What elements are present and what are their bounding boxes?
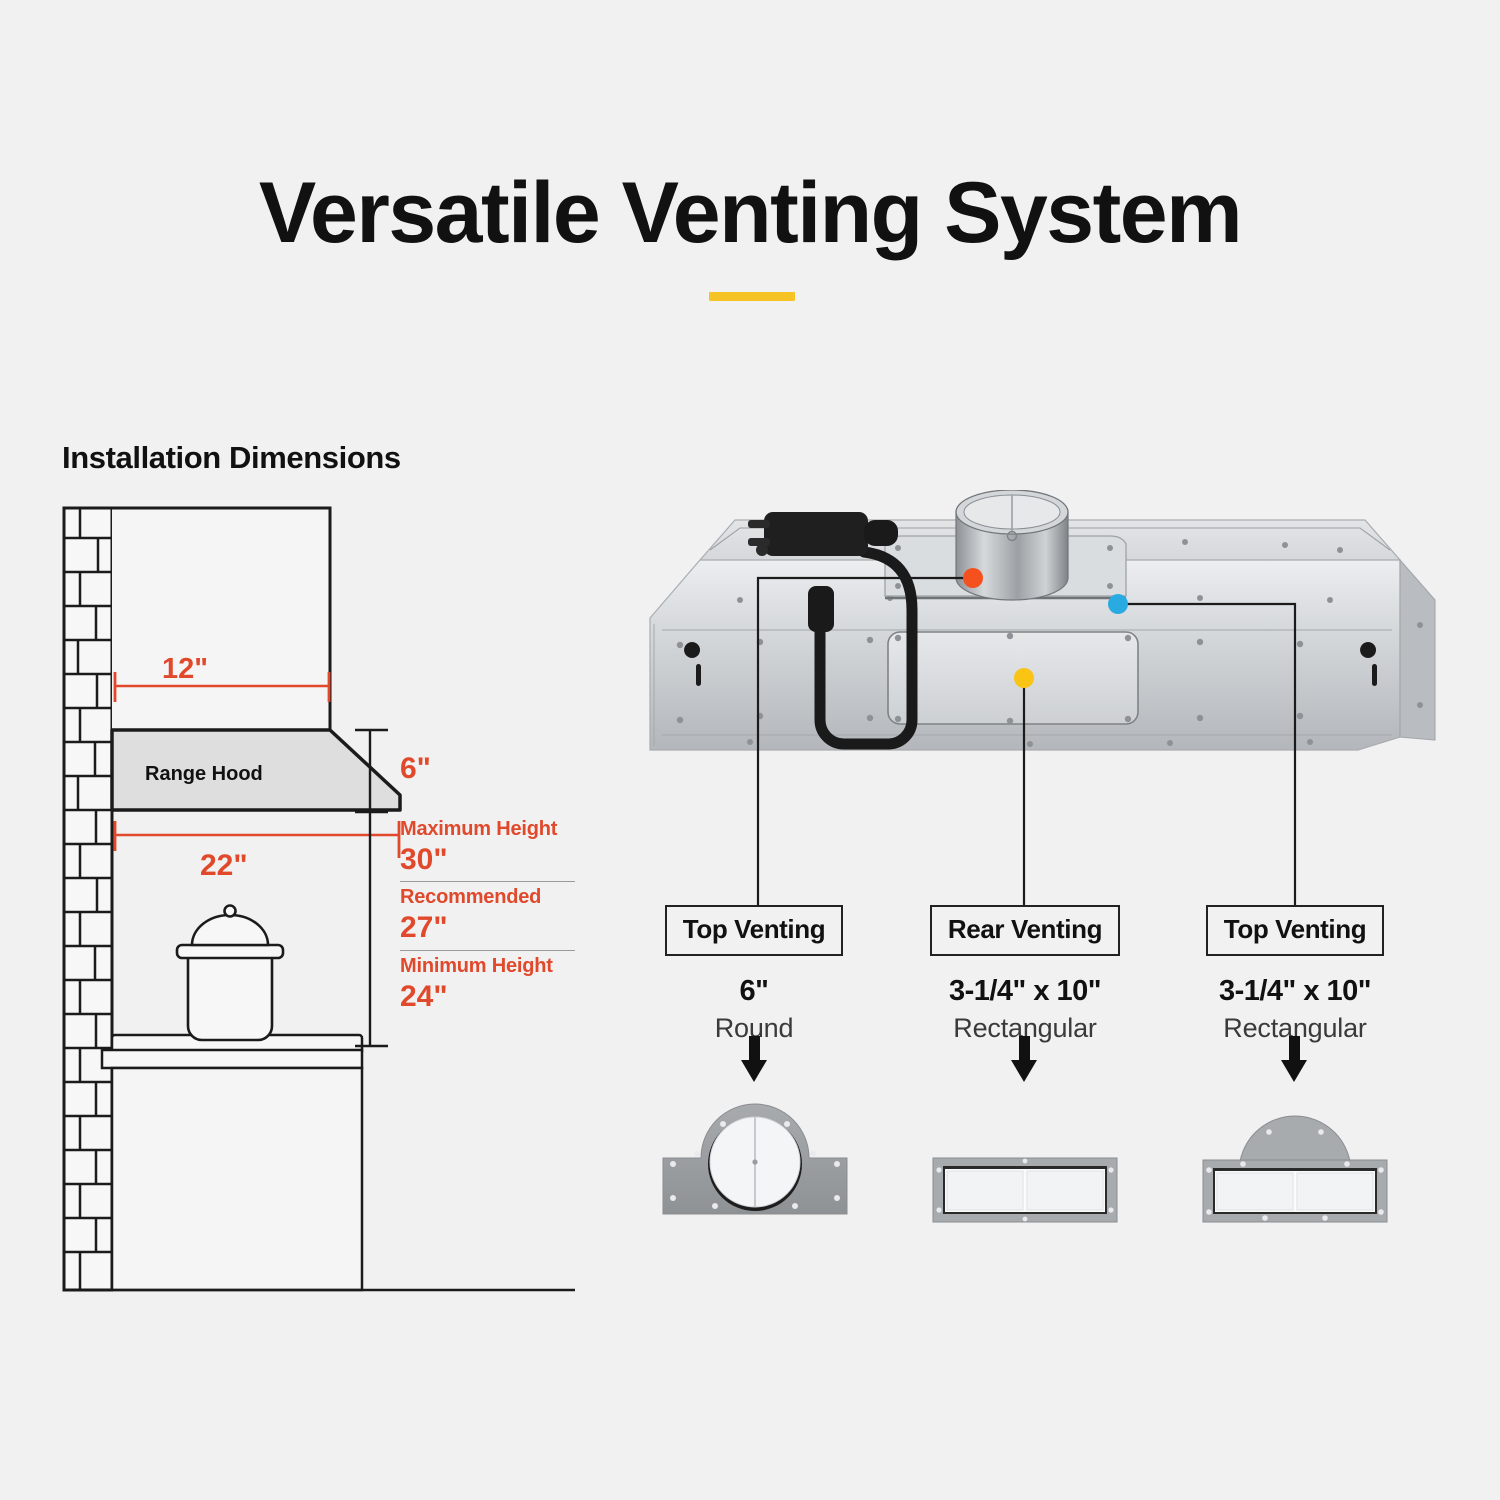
maximum-height-label: Maximum Height	[400, 818, 575, 841]
rear-rect-marker-dot	[1014, 668, 1034, 688]
counter-and-cabinet	[102, 1035, 575, 1290]
venting-option-top-rect: Top Venting 3-1/4" x 10" Rectangular	[1170, 905, 1420, 1044]
venting-badge: Rear Venting	[930, 905, 1120, 956]
maximum-height-value: 30"	[400, 843, 575, 877]
title-accent-underline	[709, 292, 795, 301]
venting-option-rear-rect: Rear Venting 3-1/4" x 10" Rectangular	[900, 905, 1150, 1044]
top-round-marker-dot	[963, 568, 983, 588]
venting-option-top-round: Top Venting 6" Round	[629, 905, 879, 1044]
venting-size: 3-1/4" x 10"	[900, 975, 1150, 1008]
maximum-height-row: Maximum Height 30"	[400, 818, 575, 877]
venting-size: 3-1/4" x 10"	[1170, 975, 1420, 1008]
rectangular-damper-image	[925, 1140, 1125, 1240]
recommended-height-row: Recommended 27"	[400, 886, 575, 945]
dimension-12in-label: 12"	[162, 653, 208, 685]
dimension-22in-label: 22"	[200, 849, 248, 882]
page-title: Versatile Venting System	[0, 168, 1500, 258]
recommended-height-label: Recommended	[400, 886, 575, 909]
recommended-height-value: 27"	[400, 911, 575, 945]
venting-size: 6"	[629, 975, 879, 1008]
dimension-22in	[114, 821, 400, 858]
domed-rectangular-damper-image	[1195, 1100, 1395, 1260]
range-hood-label: Range Hood	[145, 763, 263, 785]
height-row-divider-2	[400, 950, 575, 951]
venting-badge: Top Venting	[665, 905, 843, 956]
venting-badge: Top Venting	[1206, 905, 1384, 956]
chimney-outline	[112, 508, 330, 730]
minimum-height-label: Minimum Height	[400, 955, 575, 978]
minimum-height-row: Minimum Height 24"	[400, 955, 575, 1014]
round-damper-image	[655, 1100, 855, 1260]
rear-vent-knockout-panel	[888, 632, 1138, 724]
minimum-height-value: 24"	[400, 980, 575, 1014]
cooking-pot-icon	[177, 906, 283, 1041]
height-row-divider-1	[400, 881, 575, 882]
dimension-6in-label: 6"	[400, 752, 431, 786]
section-title-installation-dimensions: Installation Dimensions	[62, 440, 401, 476]
top-rect-marker-dot	[1108, 594, 1128, 614]
brick-wall	[64, 508, 112, 1290]
